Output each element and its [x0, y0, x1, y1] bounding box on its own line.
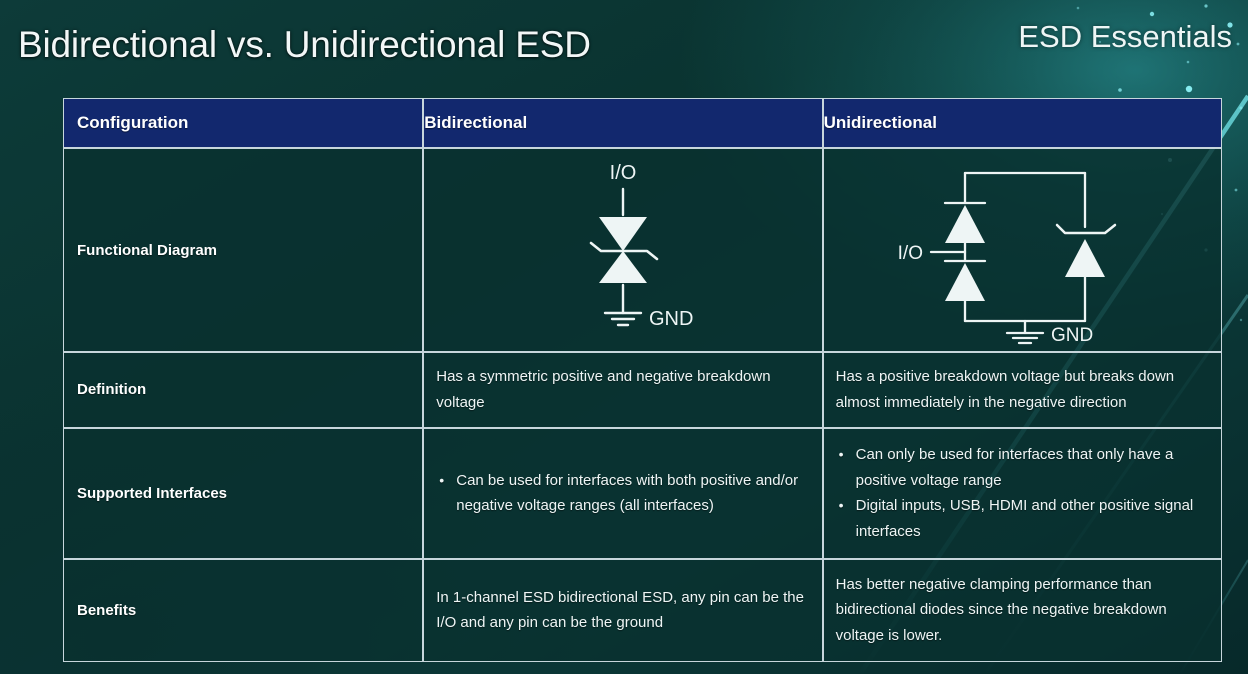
row-label-supported-interfaces: Supported Interfaces	[63, 428, 423, 559]
cell-benefits-unidirectional: Has better negative clamping performance…	[823, 559, 1222, 662]
table-header: Configuration Bidirectional Unidirection…	[63, 98, 1222, 148]
cell-definition-bidirectional: Has a symmetric positive and negative br…	[423, 352, 822, 428]
column-header-configuration: Configuration	[63, 98, 423, 148]
table-row-functional-diagram: Functional Diagram	[63, 148, 1222, 352]
cell-supported-interfaces-unidirectional: Can only be used for interfaces that onl…	[823, 428, 1222, 559]
diode-triangle-upper-left	[945, 205, 985, 243]
table-row-benefits: Benefits In 1-channel ESD bidirectional …	[63, 559, 1222, 662]
cell-supported-interfaces-bidirectional: Can be used for interfaces with both pos…	[423, 428, 822, 559]
comparison-table: Configuration Bidirectional Unidirection…	[63, 98, 1222, 662]
row-label-benefits: Benefits	[63, 559, 423, 662]
table-body: Functional Diagram	[63, 148, 1222, 662]
table-row-supported-interfaces: Supported Interfaces Can be used for int…	[63, 428, 1222, 559]
cell-bidirectional-diagram: I/O GND	[423, 148, 822, 352]
list-item: Can only be used for interfaces that onl…	[836, 442, 1209, 494]
zener-triangle-right	[1065, 239, 1105, 277]
cell-definition-unidirectional: Has a positive breakdown voltage but bre…	[823, 352, 1222, 428]
gnd-label: GND	[1051, 325, 1093, 345]
io-label: I/O	[898, 243, 923, 264]
list-item: Can be used for interfaces with both pos…	[436, 468, 809, 520]
column-header-bidirectional: Bidirectional	[423, 98, 822, 148]
series-kicker: ESD Essentials	[1018, 19, 1232, 55]
io-label: I/O	[610, 162, 637, 184]
bullet-list-unidirectional: Can only be used for interfaces that onl…	[836, 442, 1209, 545]
bidirectional-esd-diode-schematic: I/O GND	[513, 155, 733, 345]
row-label-definition: Definition	[63, 352, 423, 428]
cell-unidirectional-diagram: I/O GND	[823, 148, 1222, 352]
cell-benefits-bidirectional: In 1-channel ESD bidirectional ESD, any …	[423, 559, 822, 662]
diode-triangle-lower	[599, 251, 647, 283]
table-header-row: Configuration Bidirectional Unidirection…	[63, 98, 1222, 148]
column-header-unidirectional: Unidirectional	[823, 98, 1222, 148]
diode-triangle-upper	[599, 217, 647, 251]
row-label-functional-diagram: Functional Diagram	[63, 148, 423, 352]
bullet-list-bidirectional: Can be used for interfaces with both pos…	[436, 468, 809, 520]
list-item: Digital inputs, USB, HDMI and other posi…	[836, 493, 1209, 545]
unidirectional-esd-diode-schematic: I/O GND	[887, 155, 1157, 345]
table-row-definition: Definition Has a symmetric positive and …	[63, 352, 1222, 428]
diode-triangle-lower-left	[945, 263, 985, 301]
gnd-label: GND	[649, 308, 693, 330]
page-title: Bidirectional vs. Unidirectional ESD	[18, 24, 591, 66]
